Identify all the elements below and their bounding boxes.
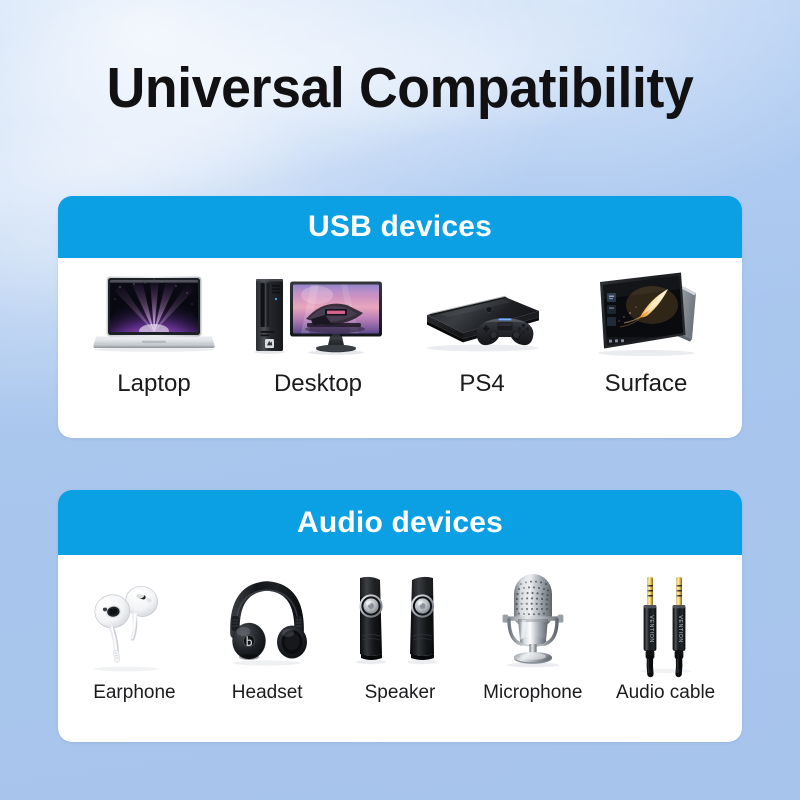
speakers-icon [334, 572, 467, 674]
device-item-desktop[interactable]: Desktop [236, 265, 400, 398]
usb-devices-card-header: USB devices [58, 196, 742, 258]
device-item-earphone[interactable]: Earphone [68, 572, 201, 704]
device-item-microphone[interactable]: Microphone [466, 572, 599, 704]
desktop-computer-icon [236, 265, 400, 361]
usb-devices-card: USB devices [58, 196, 742, 438]
device-label: Laptop [117, 370, 190, 398]
device-label: Earphone [93, 682, 175, 704]
device-label: Desktop [274, 370, 362, 398]
microphone-icon [466, 572, 599, 674]
device-item-ps4[interactable]: PS4 [400, 265, 564, 398]
audio-devices-list: Earphone [58, 555, 742, 742]
device-label: Surface [605, 370, 688, 398]
device-label: Microphone [483, 682, 582, 704]
device-item-surface[interactable]: Surface [564, 265, 728, 398]
usb-devices-list: Laptop [58, 258, 742, 438]
device-item-audio-cable[interactable]: VENTION [599, 572, 732, 704]
device-item-speaker[interactable]: Speaker [334, 572, 467, 704]
surface-tablet-icon [564, 265, 728, 361]
device-label: Headset [232, 682, 303, 704]
cable-brand-text: VENTION [648, 615, 654, 642]
audio-devices-card: Audio devices [58, 490, 742, 742]
audio-devices-card-header: Audio devices [58, 490, 742, 555]
earbuds-icon [68, 572, 201, 674]
cable-brand-text: VENTION [677, 615, 683, 642]
device-label: PS4 [459, 370, 504, 398]
device-item-headset[interactable]: Headset [201, 572, 334, 704]
page-title: Universal Compatibility [24, 58, 776, 118]
headphones-icon [201, 572, 334, 674]
device-label: Speaker [365, 682, 436, 704]
laptop-icon [72, 265, 236, 361]
device-label: Audio cable [616, 682, 715, 704]
device-item-laptop[interactable]: Laptop [72, 265, 236, 398]
playstation-console-icon [400, 265, 564, 361]
audio-cable-icon: VENTION [599, 572, 732, 674]
